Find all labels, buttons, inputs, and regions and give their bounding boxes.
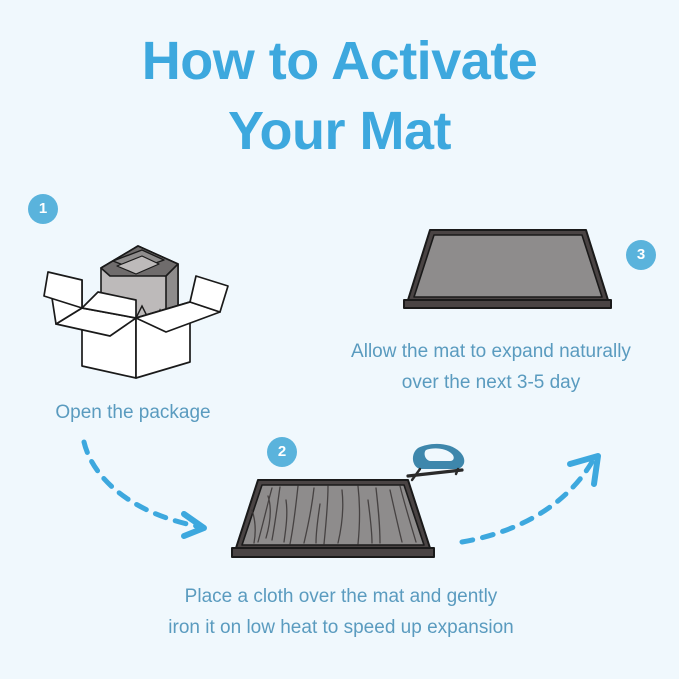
arrow-step1-to-step2-icon (78, 438, 243, 550)
step-3-caption-line-2: over the next 3-5 day (306, 367, 676, 398)
flat-expanded-mat-illustration (400, 218, 615, 318)
step-1-caption-line-1: Open the package (12, 397, 254, 428)
step-2-caption-line-2: iron it on low heat to speed up expansio… (102, 612, 580, 643)
step-badge-3: 3 (626, 240, 656, 270)
infographic-canvas: How to Activate Your Mat 1 (0, 0, 679, 679)
step-badge-2: 2 (267, 437, 297, 467)
open-box-illustration (38, 220, 234, 380)
step-3-caption-line-1: Allow the mat to expand naturally (306, 336, 676, 367)
page-title: How to Activate Your Mat (0, 26, 679, 166)
step-2-caption: Place a cloth over the mat and gently ir… (102, 581, 580, 643)
step-2-caption-line-1: Place a cloth over the mat and gently (102, 581, 580, 612)
step-1-caption: Open the package (12, 397, 254, 428)
title-line-2: Your Mat (0, 96, 679, 166)
step-3-caption: Allow the mat to expand naturally over t… (306, 336, 676, 398)
arrow-step2-to-step3-icon (458, 438, 623, 550)
creased-mat-illustration (228, 470, 438, 565)
title-line-1: How to Activate (0, 26, 679, 96)
